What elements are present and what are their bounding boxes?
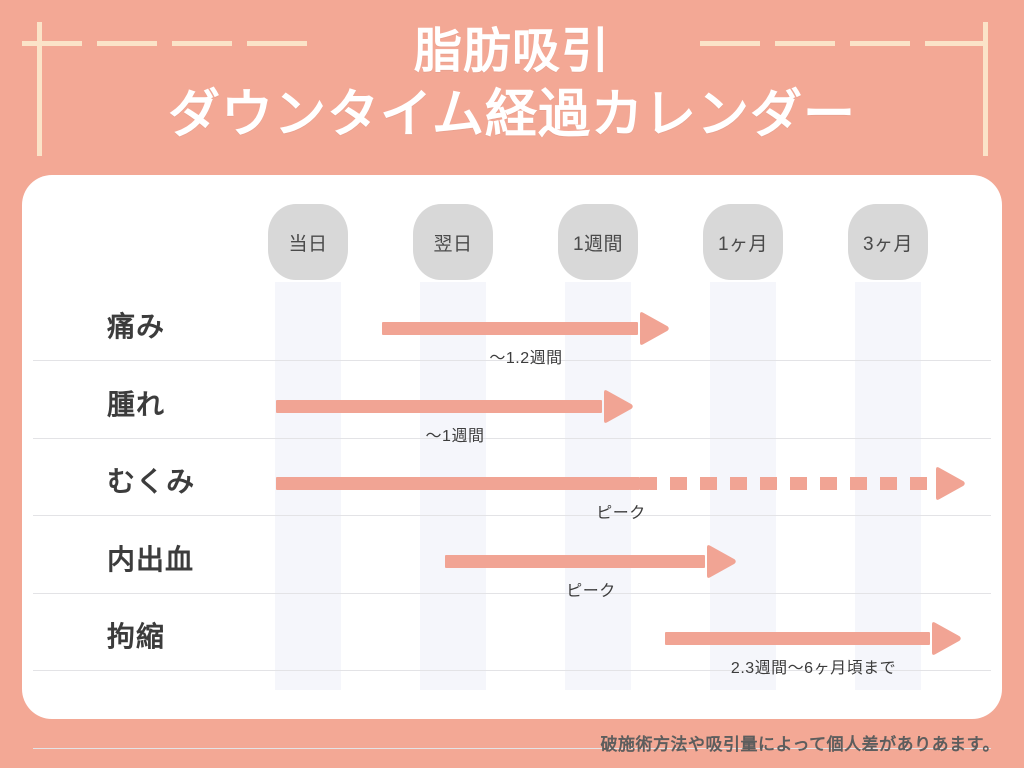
bar-solid-segment bbox=[276, 400, 602, 413]
page-title-line1: 脂肪吸引 bbox=[0, 24, 1024, 81]
column-header-label: 翌日 bbox=[433, 229, 472, 256]
infographic-root: 脂肪吸引 ダウンタイム経過カレンダー 当日翌日1週間1ヶ月3ヶ月 痛み腫れむくみ… bbox=[0, 0, 1024, 768]
bar-solid-segment bbox=[445, 555, 705, 568]
column-header-3[interactable]: 1週間 bbox=[558, 204, 638, 280]
arrow-head-icon bbox=[705, 544, 737, 579]
bar-note-2: 〜1週間 bbox=[426, 422, 485, 446]
column-header-2[interactable]: 翌日 bbox=[413, 204, 493, 280]
bar-note-3: ピーク bbox=[596, 499, 646, 523]
arrow-head-icon bbox=[930, 621, 962, 656]
row-label-2: 腫れ bbox=[107, 383, 282, 423]
arrow-head-icon bbox=[602, 389, 634, 424]
row-label-3: むくみ bbox=[107, 460, 282, 500]
column-header-1[interactable]: 当日 bbox=[268, 204, 348, 280]
column-header-label: 当日 bbox=[288, 229, 327, 256]
column-header-4[interactable]: 1ヶ月 bbox=[703, 204, 783, 280]
row-separator-4 bbox=[33, 593, 991, 594]
column-header-label: 1ヶ月 bbox=[718, 229, 768, 256]
bar-note-4: ピーク bbox=[566, 577, 616, 601]
bar-solid-segment bbox=[276, 477, 640, 490]
column-header-label: 3ヶ月 bbox=[863, 229, 913, 256]
column-header-label: 1週間 bbox=[573, 229, 623, 256]
column-header-5[interactable]: 3ヶ月 bbox=[848, 204, 928, 280]
timeline-card: 当日翌日1週間1ヶ月3ヶ月 痛み腫れむくみ内出血拘縮 〜1.2週間〜1週間ピーク… bbox=[22, 175, 1002, 719]
page-title-line2: ダウンタイム経過カレンダー bbox=[0, 85, 1024, 146]
bar-note-5: 2.3週間〜6ヶ月頃まで bbox=[731, 654, 896, 678]
arrow-head-icon bbox=[934, 466, 966, 501]
arrow-head-icon bbox=[638, 311, 670, 346]
row-label-1: 痛み bbox=[107, 305, 282, 345]
bar-solid-segment bbox=[665, 632, 930, 645]
bar-note-1: 〜1.2週間 bbox=[489, 344, 562, 368]
row-separator-2 bbox=[33, 438, 991, 439]
row-label-5: 拘縮 bbox=[107, 615, 282, 655]
row-label-4: 内出血 bbox=[107, 538, 282, 578]
footer-disclaimer: 破施術方法や吸引量によって個人差がありあます。 bbox=[601, 730, 1000, 755]
bar-solid-segment bbox=[382, 322, 638, 335]
page-title: 脂肪吸引 ダウンタイム経過カレンダー bbox=[0, 24, 1024, 146]
bar-dashed-segment bbox=[640, 477, 934, 490]
row-separator-3 bbox=[33, 515, 991, 516]
